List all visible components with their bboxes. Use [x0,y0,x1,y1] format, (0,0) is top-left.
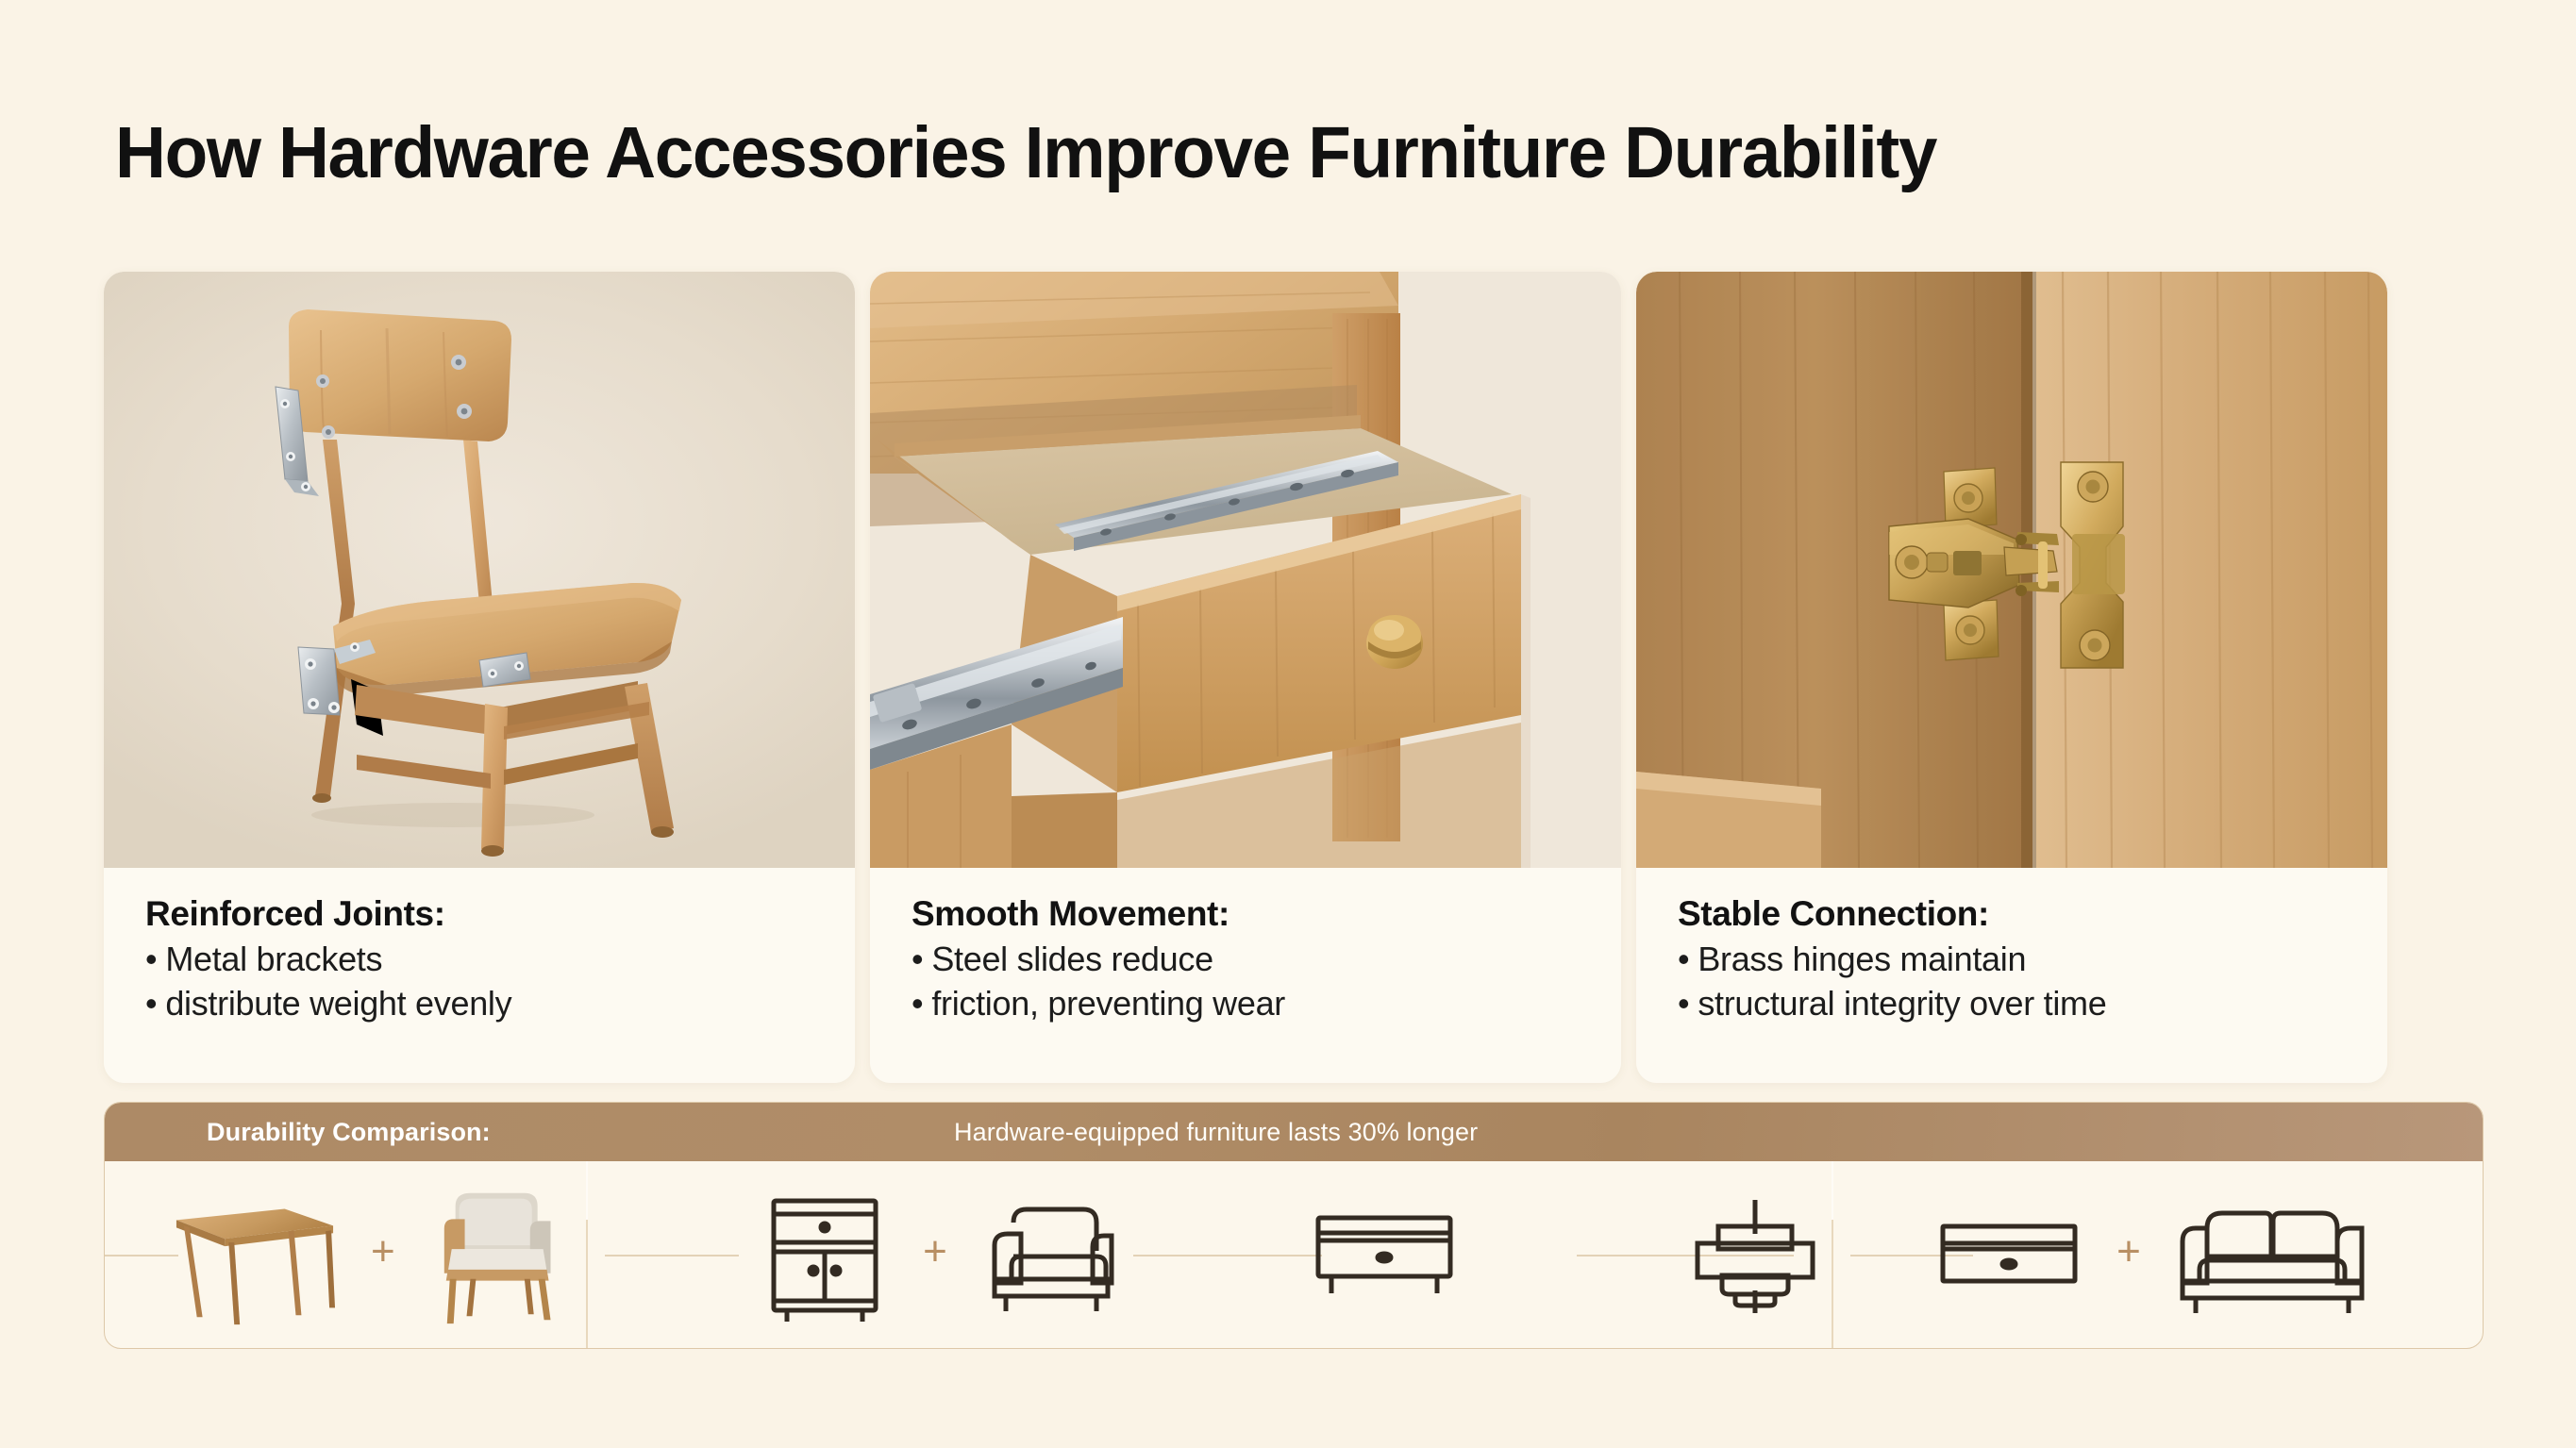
comparison-bar-label: Durability Comparison: [207,1118,491,1147]
abstract-drawer-chair-icon [1684,1189,1826,1321]
bullet-text: distribute weight evenly [165,984,511,1023]
divider-vertical [586,1220,588,1349]
comparison-group-2: + [728,1161,1152,1348]
armchair-line-icon [979,1189,1121,1321]
comparison-group-3 [1275,1161,1860,1348]
plus-symbol: + [923,1231,947,1278]
comparison-group-4: + [1898,1161,2407,1348]
caption-heading: Reinforced Joints: [145,892,821,937]
bullet-marker: • [912,940,923,978]
drawer-box-line-icon [1933,1207,2084,1302]
plus-symbol: + [2116,1231,2141,1278]
plus-symbol: + [371,1231,395,1278]
comparison-bar-statement: Hardware-equipped furniture lasts 30% lo… [954,1118,1478,1147]
bullet-text: structural integrity over time [1698,984,2106,1023]
feature-card-reinforced-joints: Reinforced Joints: •Metal brackets •dist… [104,272,855,1083]
cabinet-line-icon [759,1184,891,1325]
chair-illustration [104,272,855,868]
tv-stand-line-icon [1309,1203,1460,1307]
sofa-line-icon [2173,1189,2371,1321]
caption-heading: Stable Connection: [1678,892,2353,937]
chair-photo-canvas [104,272,855,868]
chair-photo [104,272,855,868]
connector-line [605,1255,739,1257]
bullet-text: Steel slides reduce [931,940,1213,978]
hinge-photo-canvas [1636,272,2387,868]
drawer-photo-canvas [870,272,1621,868]
comparison-group-1: + [171,1161,567,1348]
connector-line [105,1255,178,1257]
caption-block: Stable Connection: •Brass hinges maintai… [1636,868,2387,1083]
caption-bullet: •Metal brackets [145,937,821,982]
caption-block: Smooth Movement: •Steel slides reduce •f… [870,868,1621,1083]
bullet-marker: • [145,940,157,978]
upholstered-armchair-photo-icon [427,1179,567,1330]
page-title: How Hardware Accessories Improve Furnitu… [115,111,1936,195]
bullet-marker: • [1678,940,1689,978]
bullet-marker: • [145,984,157,1023]
bullet-marker: • [1678,984,1689,1023]
wood-table-photo-icon [171,1184,339,1325]
feature-card-smooth-movement: Smooth Movement: •Steel slides reduce •f… [870,272,1621,1083]
comparison-icon-strip: + [105,1161,2483,1348]
caption-heading: Smooth Movement: [912,892,1587,937]
feature-card-row: Reinforced Joints: •Metal brackets •dist… [104,272,2484,1083]
bullet-marker: • [912,984,923,1023]
caption-bullet: •distribute weight evenly [145,981,821,1026]
bullet-text: friction, preventing wear [931,984,1285,1023]
divider-vertical [586,1161,588,1220]
caption-bullet: •Brass hinges maintain [1678,937,2353,982]
bullet-text: Brass hinges maintain [1698,940,2026,978]
hinge-photo [1636,272,2387,868]
feature-card-stable-connection: Stable Connection: •Brass hinges maintai… [1636,272,2387,1083]
brass-knob [1366,615,1423,669]
bullet-text: Metal brackets [165,940,382,978]
comparison-bar: Durability Comparison: Hardware-equipped… [105,1103,2483,1161]
drawer-illustration [870,272,1621,868]
drawer-photo [870,272,1621,868]
hinge-illustration [1636,272,2387,868]
durability-comparison-panel: Durability Comparison: Hardware-equipped… [104,1102,2484,1349]
caption-block: Reinforced Joints: •Metal brackets •dist… [104,868,855,1083]
infographic-page: How Hardware Accessories Improve Furnitu… [0,0,2576,1448]
caption-bullet: •friction, preventing wear [912,981,1587,1026]
caption-bullet: •structural integrity over time [1678,981,2353,1026]
caption-bullet: •Steel slides reduce [912,937,1587,982]
